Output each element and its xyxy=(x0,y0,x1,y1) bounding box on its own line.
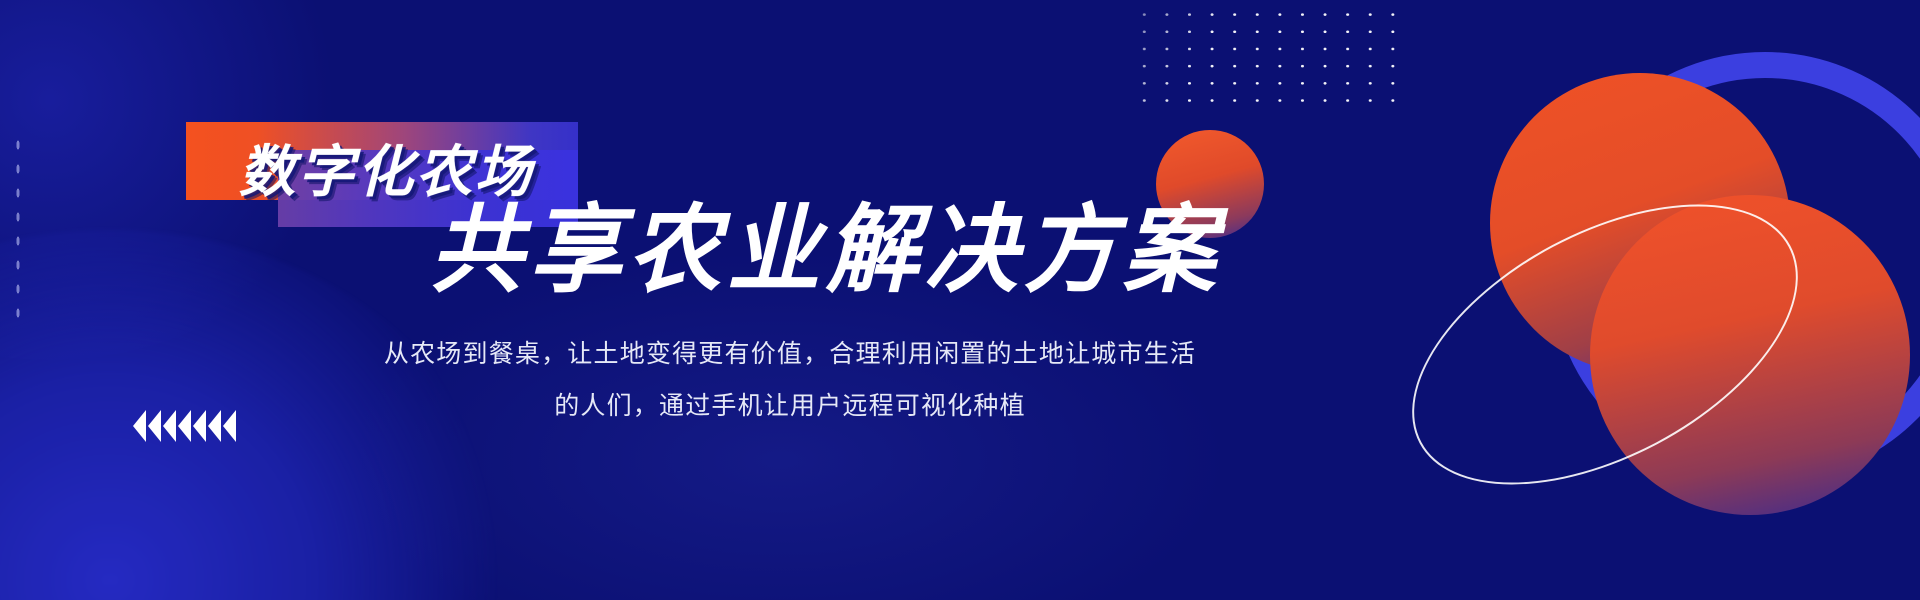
chevron-left-icon xyxy=(148,410,161,442)
page-title: 共享农业解决方案 xyxy=(430,196,1497,306)
subtitle-line-1: 从农场到餐桌，让土地变得更有价值，合理利用闲置的土地让城市生活 xyxy=(300,328,1280,380)
banner-content: 数字化农场 共享农业解决方案 从农场到餐桌，让土地变得更有价值，合理利用闲置的土… xyxy=(0,0,1920,600)
subtitle-line-2: 的人们，通过手机让用户远程可视化种植 xyxy=(300,380,1280,432)
chevron-left-icon xyxy=(178,410,191,442)
chevron-left-icon xyxy=(223,410,236,442)
chevron-left-icon xyxy=(208,410,221,442)
chevron-left-icon xyxy=(133,410,146,442)
subtitle: 从农场到餐桌，让土地变得更有价值，合理利用闲置的土地让城市生活 的人们，通过手机… xyxy=(300,328,1280,432)
chevron-left-icon xyxy=(193,410,206,442)
promo-banner: 数字化农场 共享农业解决方案 从农场到餐桌，让土地变得更有价值，合理利用闲置的土… xyxy=(0,0,1920,600)
chevron-left-group-icon xyxy=(133,410,236,442)
chevron-left-icon xyxy=(163,410,176,442)
